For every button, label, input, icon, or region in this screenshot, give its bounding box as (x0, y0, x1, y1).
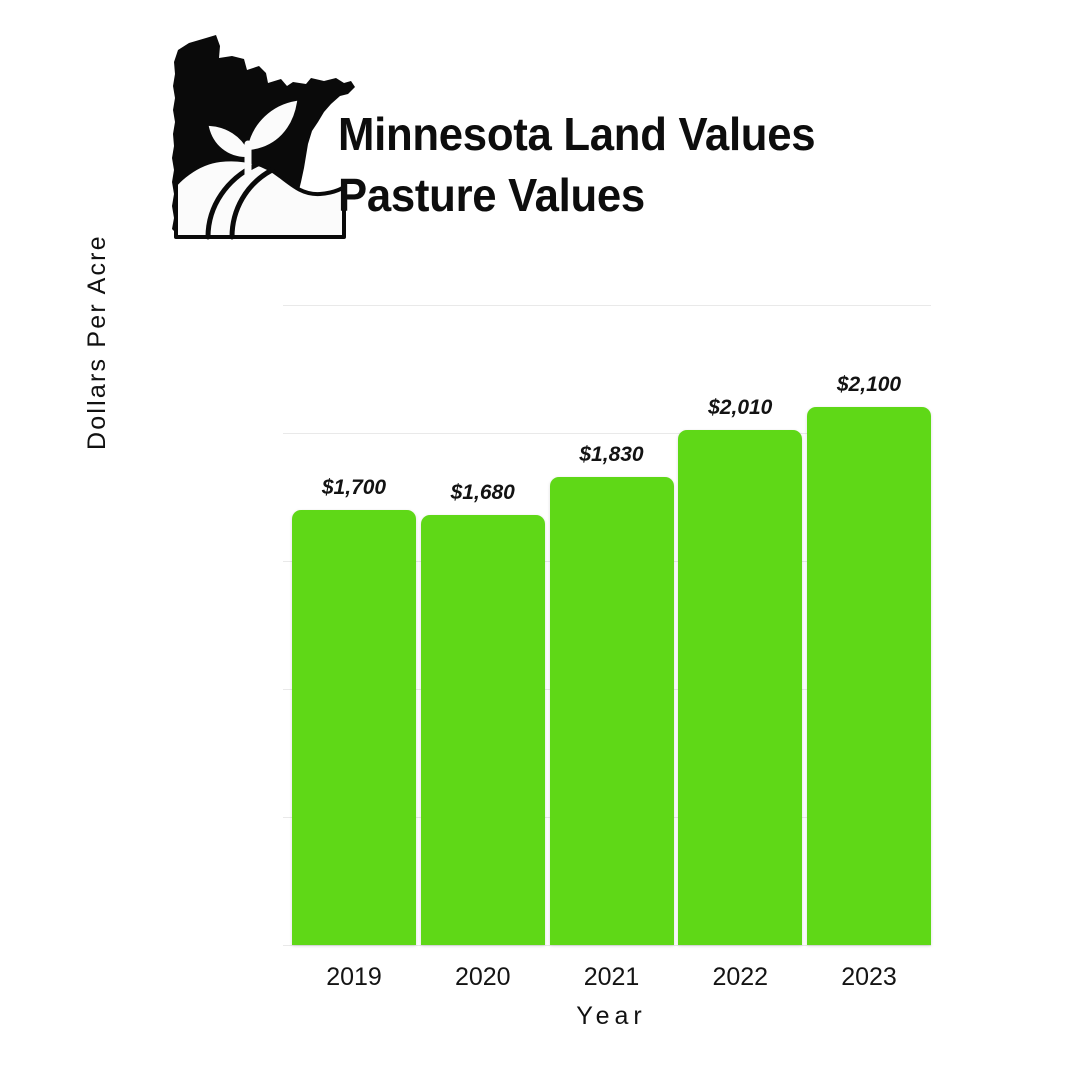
bar-2020[interactable] (421, 515, 545, 945)
bar-slot-2020: $1,6802020 (421, 305, 545, 945)
bar-value-label: $2,010 (708, 397, 772, 418)
x-axis-tick-label: 2022 (712, 965, 768, 990)
bar-slot-2022: $2,0102022 (678, 305, 802, 945)
plot-area: $2,500$2,000$1,500$1,000$500$0 $1,700201… (292, 305, 931, 945)
x-axis-tick-label: 2023 (841, 965, 897, 990)
bar-chart: Dollars Per Acre $2,500$2,000$1,500$1,00… (0, 270, 1080, 1080)
bar-slot-2021: $1,8302021 (550, 305, 674, 945)
header: Minnesota Land Values Pasture Values (0, 0, 1080, 270)
x-axis-tick-label: 2021 (584, 965, 640, 990)
bar-slot-2023: $2,1002023 (807, 305, 931, 945)
y-axis-title: Dollars Per Acre (83, 30, 112, 450)
bar-2021[interactable] (550, 477, 674, 945)
infographic-page: Minnesota Land Values Pasture Values Dol… (0, 0, 1080, 1080)
x-axis-title: Year (292, 1002, 931, 1031)
page-title: Minnesota Land Values Pasture Values (338, 104, 1038, 226)
title-line-2: Pasture Values (338, 165, 1003, 226)
bar-2023[interactable] (807, 407, 931, 945)
title-line-1: Minnesota Land Values (338, 104, 1003, 165)
bar-value-label: $1,680 (451, 482, 515, 503)
bar-slot-2019: $1,7002019 (292, 305, 416, 945)
bar-value-label: $1,830 (579, 444, 643, 465)
minnesota-seedling-logo-icon (148, 32, 366, 247)
bar-series: $1,7002019$1,6802020$1,8302021$2,0102022… (292, 305, 931, 945)
x-axis-tick-label: 2019 (326, 965, 382, 990)
gridline (283, 945, 931, 946)
bar-value-label: $2,100 (837, 374, 901, 395)
bar-2022[interactable] (678, 430, 802, 945)
x-axis-tick-label: 2020 (455, 965, 511, 990)
bar-value-label: $1,700 (322, 477, 386, 498)
bar-2019[interactable] (292, 510, 416, 945)
